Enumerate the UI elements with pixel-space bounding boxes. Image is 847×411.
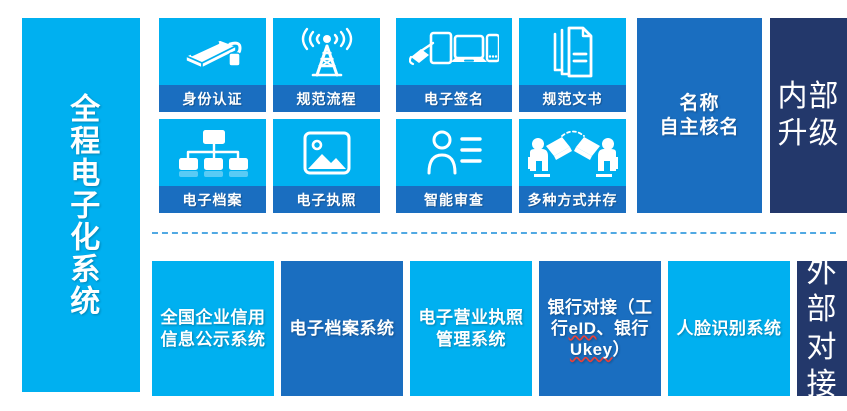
system-cell-face-recognition[interactable]: 人脸识别系统: [668, 261, 790, 396]
left-title-banner: 全程电子化系统: [22, 18, 140, 392]
system-cell-earchive-system[interactable]: 电子档案系统: [281, 261, 403, 396]
id-card-reader-icon: [159, 18, 266, 85]
system-cell-national-credit[interactable]: 全国企业信用信息公示系统: [152, 261, 274, 396]
feature-card-label: 规范流程: [273, 85, 380, 112]
panel-internal-text: 内部 升级: [778, 79, 840, 152]
feature-card-elicense[interactable]: 电子执照: [273, 119, 380, 213]
feature-card-label: 电子签名: [396, 85, 512, 112]
panel-external-line1: 外部: [803, 254, 841, 329]
system-cell-label: 电子营业执照管理系统: [416, 307, 526, 350]
left-title-text: 全程电子化系统: [62, 93, 100, 317]
feature-card-label: 智能审查: [396, 186, 512, 213]
system-cell-label: 银行对接（工行eID、银行Ukey）: [545, 297, 655, 361]
panel-internal-upgrade[interactable]: 内部 升级: [770, 18, 847, 213]
panel-naming-line1: 名称: [659, 92, 739, 115]
feature-card-label: 电子档案: [159, 186, 266, 213]
panel-internal-line1: 内部: [778, 79, 840, 116]
feature-card-documents[interactable]: 规范文书: [519, 18, 626, 112]
system-cell-elicense-mgmt[interactable]: 电子营业执照管理系统: [410, 261, 532, 396]
feature-card-smart-review[interactable]: 智能审查: [396, 119, 512, 213]
panel-external-line2: 对接: [803, 329, 841, 404]
system-cell-label: 全国企业信用信息公示系统: [158, 307, 268, 350]
person-checklist-icon: [396, 119, 512, 186]
panel-internal-line2: 升级: [778, 116, 840, 153]
feature-card-process[interactable]: 规范流程: [273, 18, 380, 112]
signal-tower-icon: [273, 18, 380, 85]
multi-device-signature-icon: [396, 18, 512, 85]
panel-external-text: 外部 对接: [803, 254, 841, 404]
panel-naming-text: 名称 自主核名: [659, 92, 739, 138]
panel-naming-line2: 自主核名: [659, 116, 739, 139]
photo-image-icon: [273, 119, 380, 186]
documents-icon: [519, 18, 626, 85]
feature-card-identity[interactable]: 身份认证: [159, 18, 266, 112]
feature-card-label: 电子执照: [273, 186, 380, 213]
system-cell-bank-integration[interactable]: 银行对接（工行eID、银行Ukey）: [539, 261, 661, 396]
panel-external-docking[interactable]: 外部 对接: [797, 261, 847, 396]
section-divider: [152, 232, 836, 234]
system-cell-label: 人脸识别系统: [677, 318, 782, 339]
feature-card-label: 规范文书: [519, 85, 626, 112]
panel-naming[interactable]: 名称 自主核名: [637, 18, 762, 213]
org-chart-icon: [159, 119, 266, 186]
infographic-canvas: 全程电子化系统 身份认证: [0, 0, 847, 411]
feature-card-earchive[interactable]: 电子档案: [159, 119, 266, 213]
feature-card-label: 多种方式并存: [519, 186, 626, 213]
feature-card-label: 身份认证: [159, 85, 266, 112]
feature-card-esignature[interactable]: 电子签名: [396, 18, 512, 112]
system-cell-label: 电子档案系统: [290, 318, 395, 339]
two-people-laptops-icon: [519, 119, 626, 186]
feature-card-multi-channel[interactable]: 多种方式并存: [519, 119, 626, 213]
